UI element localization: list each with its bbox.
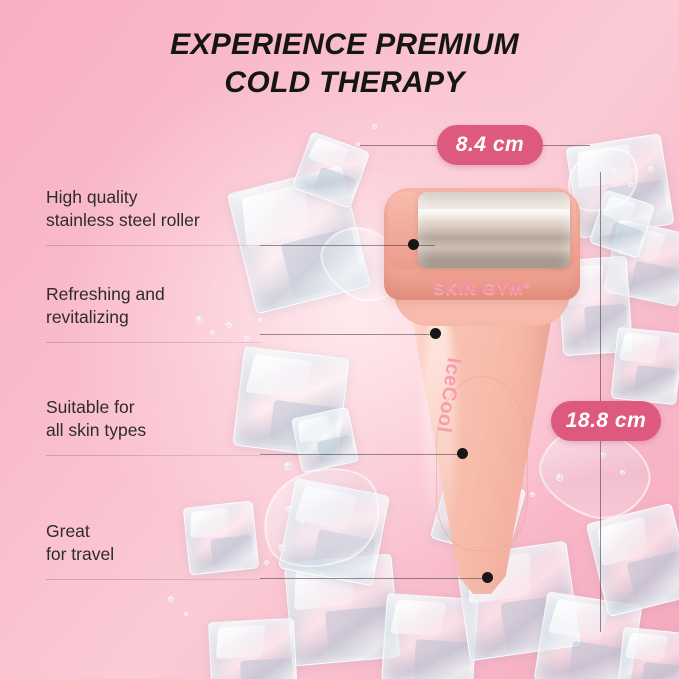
water-droplet [244, 336, 249, 341]
water-droplet [210, 330, 215, 335]
callout-dot-refreshing [430, 328, 441, 339]
leader-line-travel [260, 578, 483, 579]
water-droplet [620, 470, 625, 475]
water-droplet [300, 520, 304, 524]
feature-travel: Great for travel [46, 520, 266, 566]
water-droplet [284, 462, 292, 470]
ice-cube [589, 189, 656, 258]
water-droplet [318, 498, 323, 503]
product-brand-logo: SKIN GYM® [372, 280, 592, 299]
ice-cube [208, 618, 298, 679]
product-ice-roller: SKIN GYM® IceCool [372, 176, 592, 606]
ice-cube [292, 131, 371, 209]
leader-line-refreshing [260, 334, 435, 335]
feature-divider [46, 579, 260, 580]
ice-cube [291, 407, 359, 474]
height-badge-value: 18.8 cm [566, 409, 647, 433]
water-droplet [300, 480, 306, 486]
callout-dot-roller [408, 239, 419, 250]
width-badge-value: 8.4 cm [456, 133, 524, 157]
page-title: EXPERIENCE PREMIUM COLD THERAPY [0, 26, 679, 102]
feature-skin-types: Suitable for all skin types [46, 396, 266, 442]
water-droplet [184, 612, 188, 616]
title-line-2: COLD THERAPY [10, 64, 679, 102]
ice-cube [610, 327, 679, 406]
feature-divider [46, 455, 260, 456]
water-droplet [278, 544, 285, 551]
water-droplet [372, 124, 377, 129]
feature-roller: High quality stainless steel roller [46, 186, 266, 232]
stainless-steel-roller [418, 192, 570, 268]
width-badge: 8.4 cm [437, 125, 543, 165]
feature-divider [46, 245, 260, 246]
height-badge: 18.8 cm [551, 401, 661, 441]
callout-dot-skin-types [457, 448, 468, 459]
water-droplet [628, 182, 633, 187]
title-line-1: EXPERIENCE PREMIUM [10, 26, 679, 64]
water-droplet [168, 596, 174, 602]
feature-refreshing: Refreshing and revitalizing [46, 283, 266, 329]
water-droplet [648, 166, 654, 172]
water-droplet [286, 506, 292, 512]
brand-name: SKIN GYM [433, 280, 523, 298]
water-droplet [612, 168, 619, 175]
leader-line-skin-types [260, 454, 460, 455]
feature-divider [46, 342, 260, 343]
infographic-canvas: EXPERIENCE PREMIUM COLD THERAPY SKIN GYM… [0, 0, 679, 679]
ice-cube [603, 219, 679, 307]
feature-roller-label: High quality stainless steel roller [46, 186, 266, 232]
feature-refreshing-label: Refreshing and revitalizing [46, 283, 266, 329]
ice-cube [617, 627, 679, 679]
registered-trademark-icon: ® [524, 281, 531, 290]
feature-travel-label: Great for travel [46, 520, 266, 566]
feature-skin-types-label: Suitable for all skin types [46, 396, 266, 442]
callout-dot-travel [482, 572, 493, 583]
